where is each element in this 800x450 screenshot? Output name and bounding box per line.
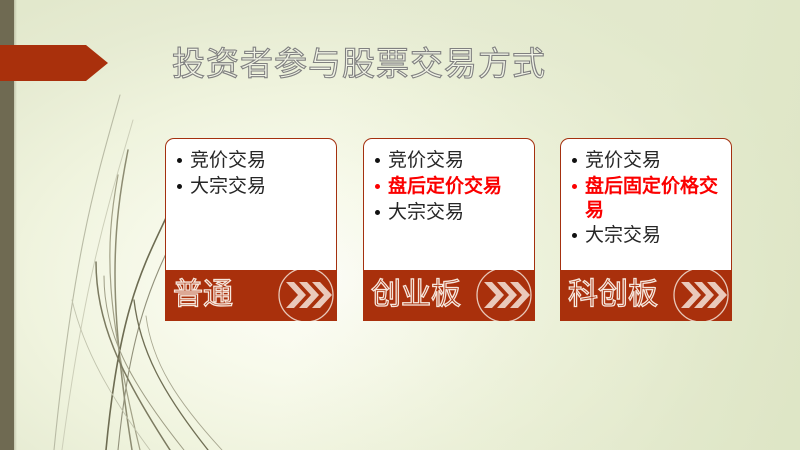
card-label: 创业板 bbox=[371, 273, 461, 317]
card-footer: 创业板 bbox=[363, 270, 535, 321]
bullet-dot-icon bbox=[572, 233, 577, 238]
list-item-label: 竞价交易 bbox=[190, 149, 266, 171]
bullet-list: 竞价交易 盘后固定价格交易 大宗交易 bbox=[570, 148, 725, 248]
card-label: 普通 bbox=[173, 273, 233, 317]
chevrons-right-icon[interactable] bbox=[670, 270, 732, 321]
list-item: 竞价交易 bbox=[175, 148, 330, 173]
list-item: 大宗交易 bbox=[570, 223, 725, 248]
card-footer: 科创板 bbox=[560, 270, 732, 321]
slide-canvas: 投资者参与股票交易方式 竞价交易 大宗交易 普通 bbox=[0, 0, 800, 450]
card-body: 竞价交易 大宗交易 bbox=[165, 138, 337, 271]
list-item-label: 盘后固定价格交易 bbox=[585, 175, 718, 221]
list-item: 大宗交易 bbox=[175, 174, 330, 199]
bullet-list: 竞价交易 大宗交易 bbox=[175, 148, 330, 199]
chevrons-right-icon[interactable] bbox=[473, 270, 535, 321]
list-item: 竞价交易 bbox=[570, 148, 725, 173]
card-body: 竞价交易 盘后定价交易 大宗交易 bbox=[363, 138, 535, 271]
card-创业板[interactable]: 竞价交易 盘后定价交易 大宗交易 创业板 bbox=[363, 138, 535, 321]
list-item-label: 大宗交易 bbox=[585, 224, 661, 246]
card-footer: 普通 bbox=[165, 270, 337, 321]
bullet-dot-icon bbox=[177, 184, 182, 189]
list-item-label: 盘后定价交易 bbox=[388, 175, 502, 197]
list-item-label: 大宗交易 bbox=[190, 175, 266, 197]
card-label: 科创板 bbox=[568, 273, 658, 317]
card-普通[interactable]: 竞价交易 大宗交易 普通 bbox=[165, 138, 337, 321]
bullet-dot-icon bbox=[375, 210, 380, 215]
list-item: 竞价交易 bbox=[373, 148, 528, 173]
bullet-dot-icon bbox=[572, 184, 577, 189]
list-item-label: 竞价交易 bbox=[388, 149, 464, 171]
card-科创板[interactable]: 竞价交易 盘后固定价格交易 大宗交易 科创板 bbox=[560, 138, 732, 321]
list-item: 大宗交易 bbox=[373, 200, 528, 225]
list-item-highlighted: 盘后定价交易 bbox=[373, 174, 528, 199]
bullet-dot-icon bbox=[375, 158, 380, 163]
bullet-dot-icon bbox=[375, 184, 380, 189]
bullet-list: 竞价交易 盘后定价交易 大宗交易 bbox=[373, 148, 528, 225]
card-body: 竞价交易 盘后固定价格交易 大宗交易 bbox=[560, 138, 732, 271]
chevrons-right-icon[interactable] bbox=[275, 270, 337, 321]
bullet-dot-icon bbox=[177, 158, 182, 163]
list-item-highlighted: 盘后固定价格交易 bbox=[570, 174, 725, 222]
bullet-dot-icon bbox=[572, 158, 577, 163]
list-item-label: 大宗交易 bbox=[388, 201, 464, 223]
cards-row: 竞价交易 大宗交易 普通 bbox=[0, 0, 800, 450]
list-item-label: 竞价交易 bbox=[585, 149, 661, 171]
